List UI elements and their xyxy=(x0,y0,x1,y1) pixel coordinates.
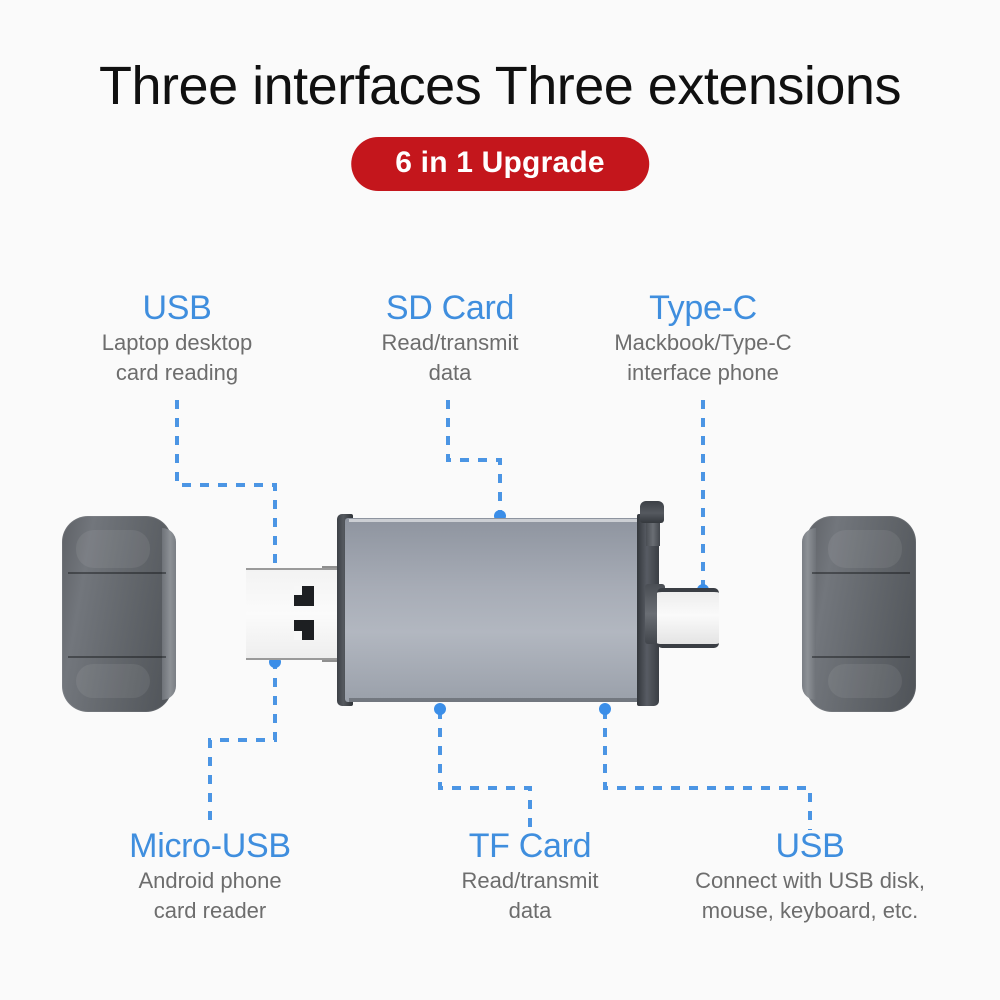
callout-desc-line2: data xyxy=(330,360,570,387)
leader-micro-usb xyxy=(210,660,275,826)
right-cap-sheen xyxy=(828,664,902,698)
left-end-cap xyxy=(62,516,172,712)
body-highlight xyxy=(349,519,641,522)
callout-title: USB xyxy=(660,828,960,865)
type-c-tab xyxy=(640,501,664,523)
leader-sd-card xyxy=(448,400,500,514)
callout-usb-bottom: USB Connect with USB disk, mouse, keyboa… xyxy=(660,828,960,925)
usb-a-plug xyxy=(246,568,342,660)
callout-tf-card: TF Card Read/transmit data xyxy=(410,828,650,925)
callout-title: Type-C xyxy=(583,290,823,327)
page-title: Three interfaces Three extensions xyxy=(0,58,1000,115)
callout-desc-line2: mouse, keyboard, etc. xyxy=(660,898,960,925)
callout-micro-usb: Micro-USB Android phone card reader xyxy=(75,828,345,925)
left-cap-sheen xyxy=(76,664,150,698)
callout-type-c: Type-C Mackbook/Type-C interface phone xyxy=(583,290,823,387)
callout-desc-line1: Laptop desktop xyxy=(42,330,312,357)
usb-contact xyxy=(294,586,314,606)
left-cap-sheen xyxy=(76,530,150,568)
right-cap-rim xyxy=(802,528,816,700)
dot-usb-bottom xyxy=(599,703,611,715)
callout-desc-line2: card reader xyxy=(75,898,345,925)
usb-contact xyxy=(294,620,314,640)
callout-desc-line2: data xyxy=(410,898,650,925)
callout-title: USB xyxy=(42,290,312,327)
right-cap-sheen xyxy=(828,530,902,568)
callout-desc-line2: card reading xyxy=(42,360,312,387)
infographic-canvas: Three interfaces Three extensions 6 in 1… xyxy=(0,0,1000,1000)
callout-title: Micro-USB xyxy=(75,828,345,865)
left-cap-band xyxy=(68,656,166,658)
callout-desc-line1: Mackbook/Type-C xyxy=(583,330,823,357)
callout-desc-line1: Read/transmit xyxy=(330,330,570,357)
type-c-plug xyxy=(657,588,719,648)
right-end-cap xyxy=(806,516,916,712)
device-body xyxy=(345,518,645,702)
callout-usb-top: USB Laptop desktop card reading xyxy=(42,290,312,387)
right-cap-band xyxy=(812,656,910,658)
callout-title: TF Card xyxy=(410,828,650,865)
leader-usb-bottom xyxy=(605,710,810,830)
upgrade-badge: 6 in 1 Upgrade xyxy=(351,137,649,191)
callout-title: SD Card xyxy=(330,290,570,327)
callout-desc-line2: interface phone xyxy=(583,360,823,387)
callout-desc-line1: Connect with USB disk, xyxy=(660,868,960,895)
right-cap-band xyxy=(812,572,910,574)
leader-tf-card xyxy=(440,710,530,830)
callout-desc-line1: Android phone xyxy=(75,868,345,895)
left-cap-band xyxy=(68,572,166,574)
left-cap-rim xyxy=(162,528,176,700)
callout-sd-card: SD Card Read/transmit data xyxy=(330,290,570,387)
dot-tf-card xyxy=(434,703,446,715)
body-shadow xyxy=(349,698,641,702)
callout-desc-line1: Read/transmit xyxy=(410,868,650,895)
